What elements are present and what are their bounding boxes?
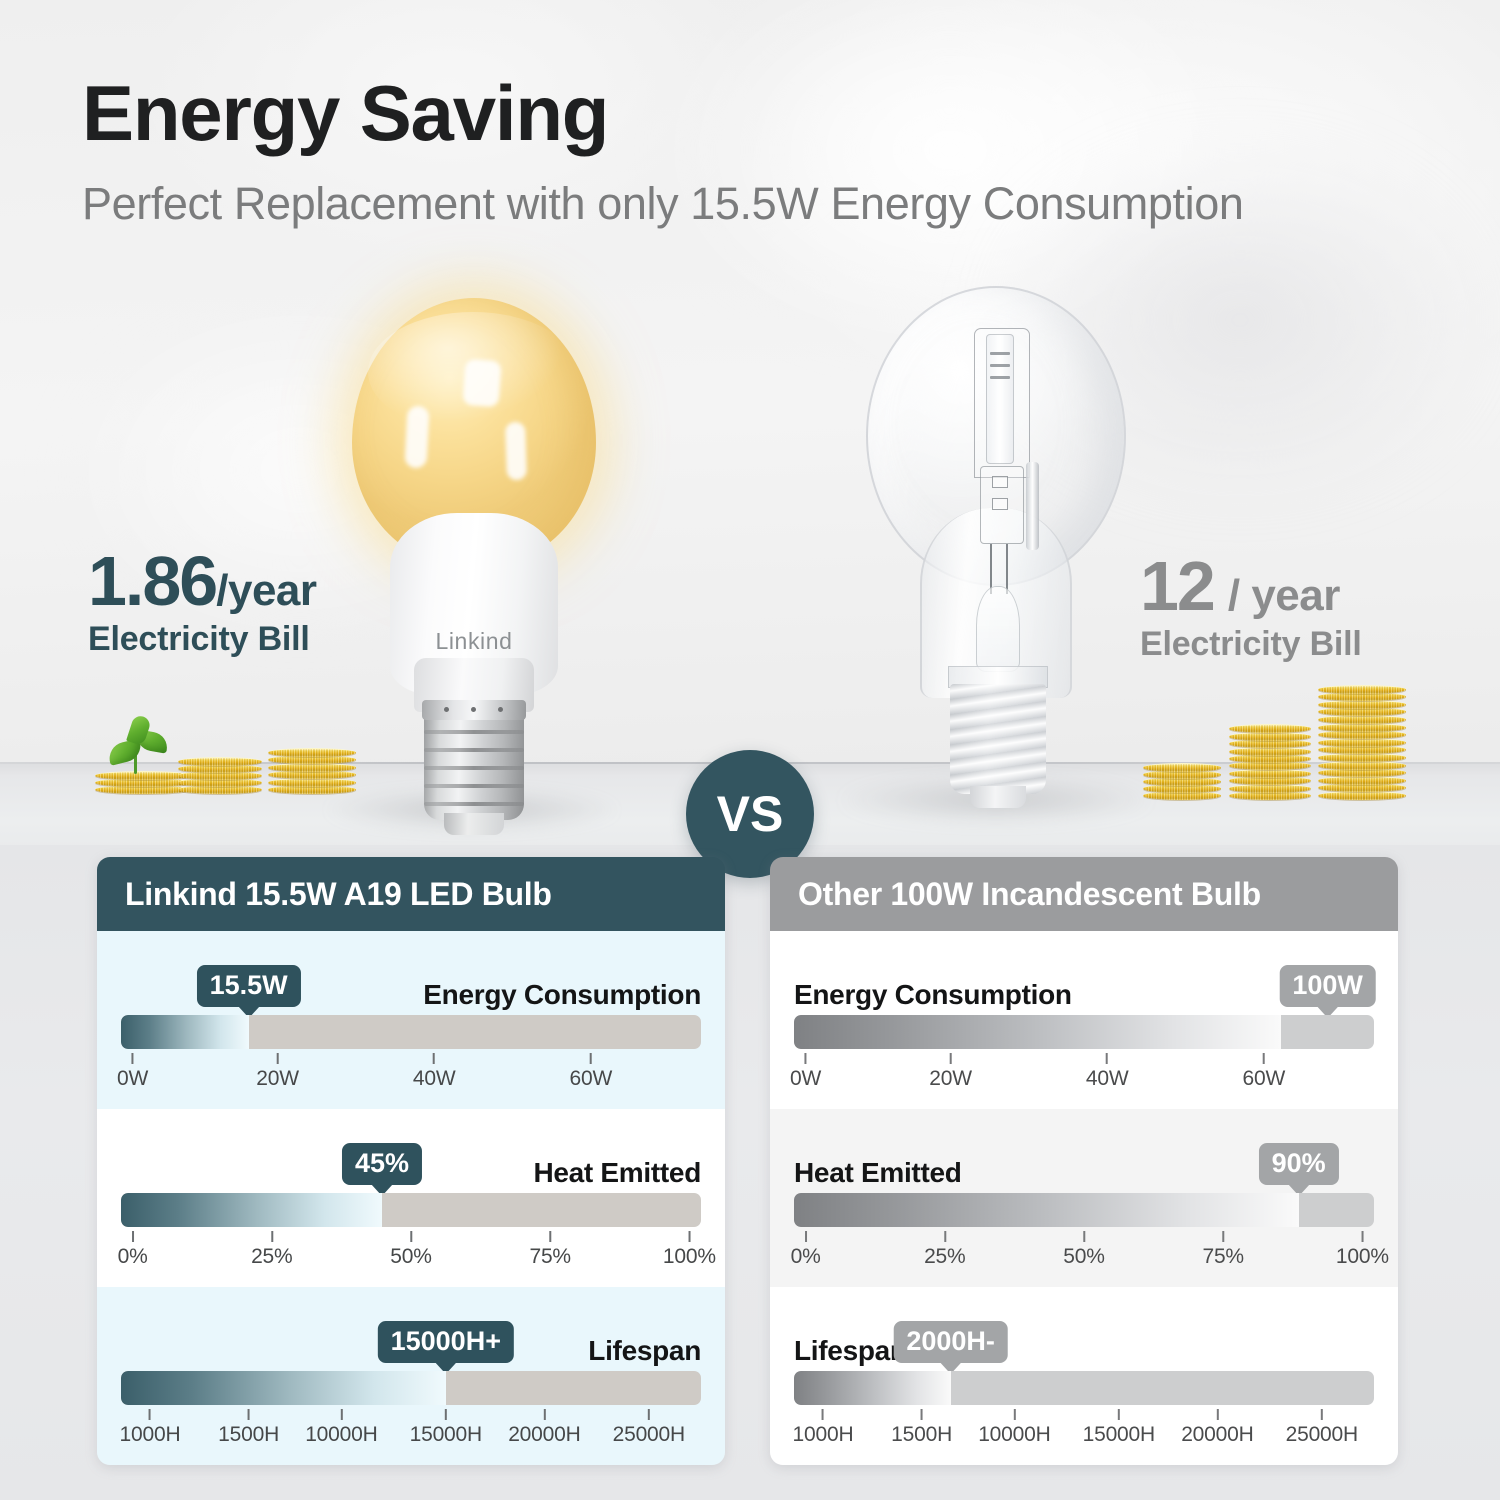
coin (1318, 776, 1406, 785)
tick-mark (950, 1053, 952, 1064)
metric-top-energy-inc: Energy Consumption 100W (794, 953, 1374, 1009)
tick-label: 1000H (793, 1423, 854, 1447)
tick-label: 0% (791, 1245, 821, 1269)
tick-label: 20000H (508, 1423, 580, 1447)
led-cost-label: Electricity Bill (88, 620, 418, 659)
metric-label-heat-led: Heat Emitted (533, 1159, 701, 1187)
tick-label: 25% (924, 1245, 965, 1269)
bar-fill-lifespan-led (121, 1371, 446, 1405)
tick-mark (445, 1409, 447, 1420)
tick-label: 75% (529, 1245, 570, 1269)
tick: 15000H (410, 1409, 482, 1447)
bar-track-heat-inc (794, 1193, 1374, 1227)
tick: 1500H (891, 1409, 952, 1447)
tick-mark (410, 1231, 412, 1242)
tick-mark (944, 1231, 946, 1242)
tick-label: 1500H (891, 1423, 952, 1447)
filament-coil-bar (990, 376, 1010, 379)
incandescent-bulb-image (866, 286, 1126, 834)
incandescent-cost-period: / year (1228, 571, 1340, 621)
tick: 100% (1336, 1231, 1389, 1269)
tick: 0% (791, 1231, 821, 1269)
tick: 1000H (793, 1409, 854, 1447)
card-header-incandescent: Other 100W Incandescent Bulb (770, 857, 1398, 931)
sprout-icon (108, 720, 174, 776)
bar-fill-energy-inc (794, 1015, 1281, 1049)
led-thread-ring (424, 802, 524, 806)
tick-mark (688, 1231, 690, 1242)
bubble-heat-inc: 90% (1259, 1143, 1339, 1185)
led-highlight-left (404, 405, 429, 468)
metric-top-lifespan-led: 15000H+ Lifespan (121, 1309, 701, 1365)
metric-top-heat-led: 45% Heat Emitted (121, 1131, 701, 1187)
tick-mark (1321, 1409, 1323, 1420)
incandescent-cost-value: 12 (1140, 552, 1214, 621)
metric-label-heat-inc: Heat Emitted (794, 1159, 962, 1187)
coin-stack-medium-right (1229, 722, 1311, 800)
led-thread-ring (424, 748, 524, 752)
hero-comparison-scene: Linkind VS 1 (0, 276, 1500, 856)
tick-mark (648, 1409, 650, 1420)
bubble-energy-led: 15.5W (197, 965, 301, 1007)
tick-label: 50% (390, 1245, 431, 1269)
filament-support-square (992, 498, 1008, 510)
tick: 25% (251, 1231, 292, 1269)
coin (1143, 763, 1221, 772)
page-subtitle: Perfect Replacement with only 15.5W Ener… (82, 180, 1442, 227)
bar-fill-energy-led (121, 1015, 249, 1049)
tick-label: 25% (251, 1245, 292, 1269)
metric-label-lifespan-led: Lifespan (588, 1337, 701, 1365)
coin (1318, 700, 1406, 709)
card-linkind-led: Linkind 15.5W A19 LED Bulb 15.5W Energy … (97, 857, 725, 1465)
bubble-lifespan-led: 15000H+ (378, 1321, 514, 1363)
bubble-energy-inc: 100W (1279, 965, 1376, 1007)
tick-mark (543, 1409, 545, 1420)
led-bulb-tip (444, 813, 504, 835)
metric-label-energy-led: Energy Consumption (423, 981, 701, 1009)
metric-top-energy-led: 15.5W Energy Consumption (121, 953, 701, 1009)
metric-top-heat-inc: Heat Emitted 90% (794, 1131, 1374, 1187)
led-cost-row: 1.86 /year (88, 547, 418, 616)
tick-label: 60W (570, 1067, 613, 1091)
led-collar-dot (498, 707, 503, 712)
tick-mark (132, 1053, 134, 1064)
tick-axis-energy-led: 0W20W40W60W (121, 1053, 701, 1093)
tick-label: 75% (1202, 1245, 1243, 1269)
tick-mark (271, 1231, 273, 1242)
metric-row-heat-inc: Heat Emitted 90% 0%25%50%75%100% (770, 1109, 1398, 1287)
tick-mark (1013, 1409, 1015, 1420)
tick: 50% (390, 1231, 431, 1269)
tick-mark (1106, 1053, 1108, 1064)
tick-mark (149, 1409, 151, 1420)
tick-mark (340, 1409, 342, 1420)
led-collar-dot (471, 707, 476, 712)
metric-row-lifespan-led: 15000H+ Lifespan 1000H1500H10000H15000H2… (97, 1287, 725, 1465)
led-highlight-top (462, 359, 501, 407)
bar-track-lifespan-led (121, 1371, 701, 1405)
tick: 10000H (305, 1409, 377, 1447)
bar-track-heat-led (121, 1193, 701, 1227)
tick-mark (549, 1231, 551, 1242)
tick: 25000H (1286, 1409, 1358, 1447)
tick-label: 1500H (218, 1423, 279, 1447)
tick-label: 25000H (613, 1423, 685, 1447)
tick: 0% (118, 1231, 148, 1269)
tick-axis-energy-inc: 0W20W40W60W (794, 1053, 1374, 1093)
tick: 60W (570, 1053, 613, 1091)
bar-fill-heat-inc (794, 1193, 1299, 1227)
coin (268, 748, 356, 757)
tick: 40W (1086, 1053, 1129, 1091)
incandescent-bulb-tip (970, 786, 1026, 808)
tick-axis-heat-inc: 0%25%50%75%100% (794, 1231, 1374, 1271)
metric-row-heat-led: 45% Heat Emitted 0%25%50%75%100% (97, 1109, 725, 1287)
card-header-led: Linkind 15.5W A19 LED Bulb (97, 857, 725, 931)
tick-mark (822, 1409, 824, 1420)
tick: 75% (1202, 1231, 1243, 1269)
led-thread-ring (424, 730, 524, 734)
tick-axis-lifespan-inc: 1000H1500H10000H15000H20000H25000H (794, 1409, 1374, 1449)
bar-fill-lifespan-inc (794, 1371, 951, 1405)
filament-coil-bar (990, 364, 1010, 367)
led-thread-ring (424, 766, 524, 770)
coin (1229, 732, 1311, 741)
tick: 0W (117, 1053, 148, 1091)
tick: 20W (256, 1053, 299, 1091)
tick-label: 0% (118, 1245, 148, 1269)
coin (1318, 685, 1406, 694)
filament-coil-bar (990, 352, 1010, 355)
metric-row-lifespan-inc: Lifespan 2000H- 1000H1500H10000H15000H20… (770, 1287, 1398, 1465)
tick-label: 60W (1243, 1067, 1286, 1091)
bubble-heat-led: 45% (342, 1143, 422, 1185)
tick-mark (1118, 1409, 1120, 1420)
tick-mark (1263, 1053, 1265, 1064)
metric-row-energy-led: 15.5W Energy Consumption 0W20W40W60W (97, 931, 725, 1109)
tick-mark (1216, 1409, 1218, 1420)
card-other-incandescent: Other 100W Incandescent Bulb Energy Cons… (770, 857, 1398, 1465)
led-collar-dot (444, 707, 449, 712)
page-title: Energy Saving (82, 74, 1442, 152)
bar-track-energy-inc (794, 1015, 1374, 1049)
card-title-led: Linkind 15.5W A19 LED Bulb (125, 876, 552, 913)
tick: 60W (1243, 1053, 1286, 1091)
tick-label: 15000H (1083, 1423, 1155, 1447)
filament-support-rod (1026, 462, 1039, 550)
tick-label: 25000H (1286, 1423, 1358, 1447)
tick-label: 0W (790, 1067, 821, 1091)
tick-label: 20W (929, 1067, 972, 1091)
bar-track-energy-led (121, 1015, 701, 1049)
tick-label: 40W (413, 1067, 456, 1091)
card-title-incandescent: Other 100W Incandescent Bulb (798, 876, 1261, 913)
tick-label: 20W (256, 1067, 299, 1091)
tick: 25000H (613, 1409, 685, 1447)
metric-label-lifespan-inc: Lifespan (794, 1337, 907, 1365)
tick: 20000H (508, 1409, 580, 1447)
header-block: Energy Saving Perfect Replacement with o… (82, 74, 1442, 227)
led-cost-value: 1.86 (88, 547, 216, 616)
metric-row-energy-inc: Energy Consumption 100W 0W20W40W60W (770, 931, 1398, 1109)
tick-mark (805, 1231, 807, 1242)
tick: 20000H (1181, 1409, 1253, 1447)
tick-label: 50% (1063, 1245, 1104, 1269)
tick-label: 100% (1336, 1245, 1389, 1269)
tick-mark (1361, 1231, 1363, 1242)
tick-label: 10000H (305, 1423, 377, 1447)
tick-mark (590, 1053, 592, 1064)
vs-label: VS (717, 785, 784, 843)
coin-stack-tall-left (268, 748, 356, 794)
coin (1229, 724, 1311, 733)
tick: 15000H (1083, 1409, 1155, 1447)
metric-label-energy-inc: Energy Consumption (794, 981, 1072, 1009)
led-thread-ring (424, 784, 524, 788)
metric-top-lifespan-inc: Lifespan 2000H- (794, 1309, 1374, 1365)
tick-axis-heat-led: 0%25%50%75%100% (121, 1231, 701, 1271)
tick: 1000H (120, 1409, 181, 1447)
incandescent-cost-row: 12 / year (1140, 552, 1470, 621)
coin (1318, 791, 1406, 800)
bubble-lifespan-inc: 2000H- (893, 1321, 1008, 1363)
coin (1318, 715, 1406, 724)
coin-stack-small-right (1143, 764, 1221, 800)
tick-mark (248, 1409, 250, 1420)
tick-mark (921, 1409, 923, 1420)
tick-label: 1000H (120, 1423, 181, 1447)
bar-track-lifespan-inc (794, 1371, 1374, 1405)
tick: 10000H (978, 1409, 1050, 1447)
tick-mark (1222, 1231, 1224, 1242)
coin-stack-medium-left (178, 758, 262, 794)
tick-label: 20000H (1181, 1423, 1253, 1447)
tick: 75% (529, 1231, 570, 1269)
bar-fill-heat-led (121, 1193, 382, 1227)
tick-axis-lifespan-led: 1000H1500H10000H15000H20000H25000H (121, 1409, 701, 1449)
incandescent-stem (976, 586, 1020, 672)
tick: 50% (1063, 1231, 1104, 1269)
tick-mark (277, 1053, 279, 1064)
tick-mark (132, 1231, 134, 1242)
incandescent-cost-block: 12 / year Electricity Bill (1140, 552, 1470, 664)
tick: 0W (790, 1053, 821, 1091)
tick: 40W (413, 1053, 456, 1091)
led-cost-period: /year (216, 566, 316, 616)
incandescent-cost-label: Electricity Bill (1140, 625, 1470, 664)
tick-mark (1083, 1231, 1085, 1242)
led-cost-block: 1.86 /year Electricity Bill (88, 547, 418, 659)
coin (178, 757, 262, 766)
tick: 100% (663, 1231, 716, 1269)
coin (1229, 769, 1311, 778)
tick: 1500H (218, 1409, 279, 1447)
tick-mark (805, 1053, 807, 1064)
filament-support-square (992, 476, 1008, 488)
tick-label: 100% (663, 1245, 716, 1269)
incandescent-screw-base (950, 684, 1046, 794)
coin-stack-tall-right (1318, 684, 1406, 800)
tick-label: 0W (117, 1067, 148, 1091)
tick: 20W (929, 1053, 972, 1091)
tick: 25% (924, 1231, 965, 1269)
tick-label: 40W (1086, 1067, 1129, 1091)
filament-lead-wire (1006, 544, 1008, 594)
tick-label: 15000H (410, 1423, 482, 1447)
coin (1318, 753, 1406, 762)
led-highlight-right (505, 422, 527, 481)
coin (1318, 738, 1406, 747)
tick-label: 10000H (978, 1423, 1050, 1447)
tick-mark (433, 1053, 435, 1064)
